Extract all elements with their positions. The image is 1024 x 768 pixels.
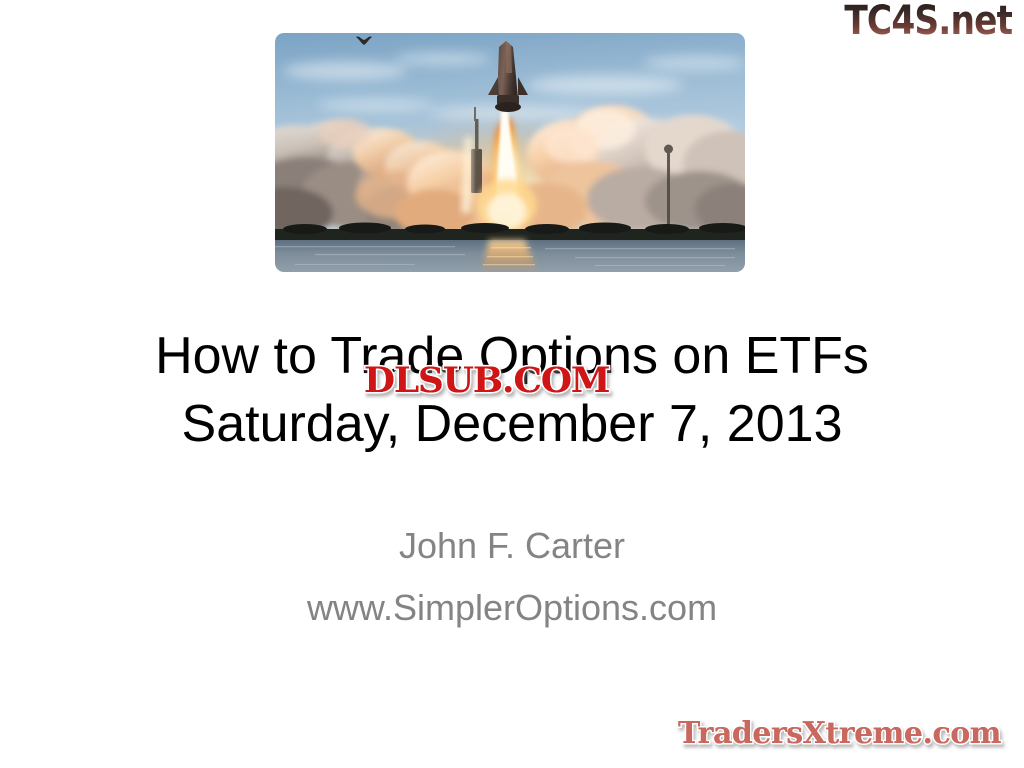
presentation-slide: TC4S.net [0, 0, 1024, 768]
tradersxtreme-watermark-fill: TradersXtreme.com [678, 716, 1001, 751]
shuttle-launch-illustration [275, 33, 745, 272]
dlsub-watermark: DLSUB.COM DLSUB.COM [364, 360, 609, 401]
tradersxtreme-watermark: TradersXtreme.com TradersXtreme.com [678, 716, 1001, 751]
presenter-website: www.SimplerOptions.com [0, 577, 1024, 639]
slide-subtitle: John F. Carter www.SimplerOptions.com [0, 515, 1024, 639]
presenter-name: John F. Carter [0, 515, 1024, 577]
dlsub-watermark-fill: DLSUB.COM [364, 360, 609, 401]
shuttle-launch-image [275, 33, 745, 272]
tc4s-watermark: TC4S.net [844, 0, 1012, 44]
